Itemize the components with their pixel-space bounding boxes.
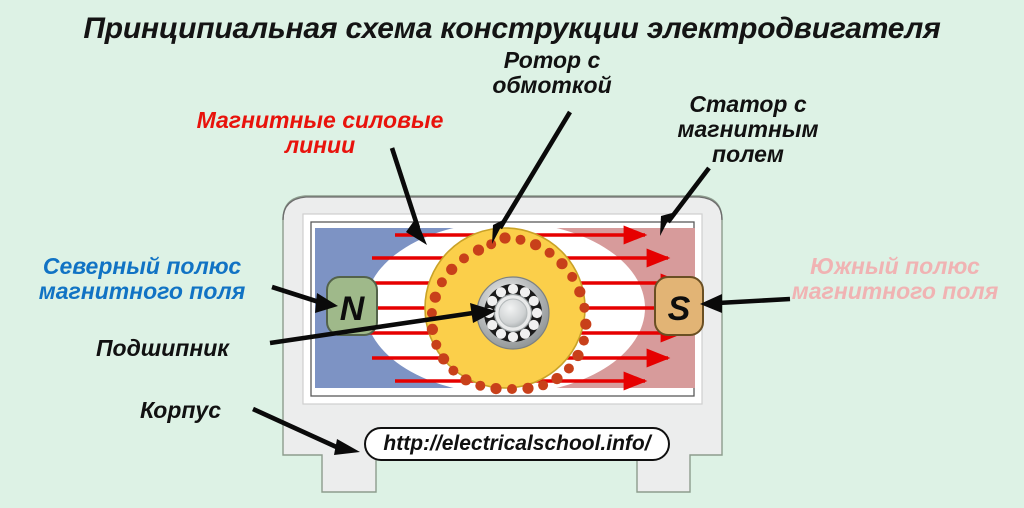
label-stator: Статор с магнитным полем [648,92,848,166]
page-title: Принципиальная схема конструкции электро… [0,12,1024,46]
svg-text:S: S [668,290,691,328]
label-north-pole: Северный полюс магнитного поля [8,254,276,304]
diagram-canvas: N S [0,0,1024,508]
svg-text:N: N [340,290,366,328]
label-rotor: Ротор с обмоткой [462,48,642,98]
label-housing: Корпус [140,398,270,423]
label-south-pole: Южный полюс магнитного поля [770,254,1020,304]
watermark-url: http://electricalschool.info/ [367,430,667,458]
label-magnetic-field-lines: Магнитные силовые линии [160,108,480,158]
south-pole-magnet: S [655,277,703,335]
label-bearing: Подшипник [96,336,292,361]
